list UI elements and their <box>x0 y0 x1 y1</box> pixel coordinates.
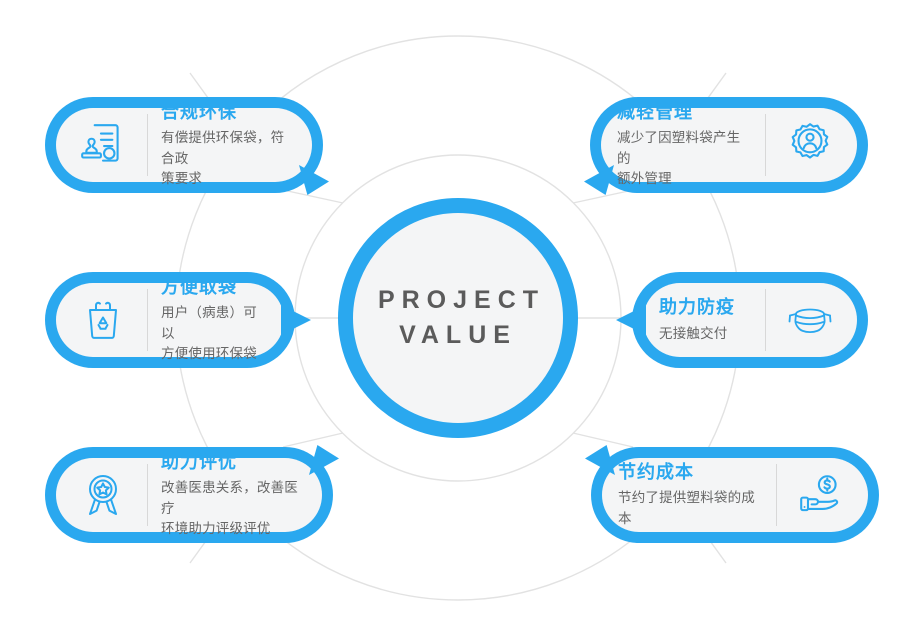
card-rating-divider <box>147 464 148 526</box>
face-mask-icon <box>779 294 841 346</box>
card-manage-divider <box>765 114 766 176</box>
card-compliance-body: 合规环保 有偿提供环保袋，符合政 策要求 <box>56 108 312 182</box>
card-epidemic-body: 助力防疫 无接触交付 <box>643 283 857 357</box>
card-epidemic-text: 助力防疫 无接触交付 <box>659 296 752 344</box>
spoke-lower-right <box>573 433 633 447</box>
card-bag-text: 方便取袋 用户（病患）可以 方便使用环保袋 <box>161 276 268 364</box>
card-compliance-desc: 有偿提供环保袋，符合政 策要求 <box>161 128 296 189</box>
card-cost-title: 节约成本 <box>618 461 763 484</box>
card-epidemic-divider <box>765 289 766 351</box>
award-medal-icon <box>72 471 134 519</box>
card-rating-desc: 改善医患关系，改善医疗 环境助力评级评优 <box>161 478 306 539</box>
card-manage-text: 减轻管理 减少了因塑料袋产生的 额外管理 <box>617 101 752 189</box>
card-rating[interactable]: 助力评优 改善医患关系，改善医疗 环境助力评级评优 <box>45 447 333 543</box>
card-manage-title: 减轻管理 <box>617 101 752 124</box>
card-bag-desc: 用户（病患）可以 方便使用环保袋 <box>161 303 268 364</box>
card-bag-divider <box>147 289 148 351</box>
recycle-bag-icon <box>72 296 134 344</box>
card-compliance[interactable]: 合规环保 有偿提供环保袋，符合政 策要求 <box>45 97 323 193</box>
card-rating-body: 助力评优 改善医患关系，改善医疗 环境助力评级评优 <box>56 458 322 532</box>
spoke-lower-left <box>283 433 343 447</box>
card-cost-desc: 节约了提供塑料袋的成本 <box>618 488 763 529</box>
card-epidemic[interactable]: 助力防疫 无接触交付 <box>632 272 868 368</box>
stamped-document-icon <box>72 120 134 170</box>
hand-coin-icon <box>790 470 852 520</box>
spoke-upper-left <box>283 190 343 203</box>
infographic-canvas: PROJECT VALUE 合规环保 有偿提供环保袋，符合政 策要求 <box>0 0 913 634</box>
center-hub-label: PROJECT VALUE <box>371 283 545 354</box>
card-manage-desc: 减少了因塑料袋产生的 额外管理 <box>617 128 752 189</box>
card-rating-text: 助力评优 改善医患关系，改善医疗 环境助力评级评优 <box>161 451 306 539</box>
card-epidemic-title: 助力防疫 <box>659 296 752 319</box>
card-rating-title: 助力评优 <box>161 451 306 474</box>
card-bag-body: 方便取袋 用户（病患）可以 方便使用环保袋 <box>56 283 284 357</box>
card-bag-title: 方便取袋 <box>161 276 268 299</box>
card-manage[interactable]: 减轻管理 减少了因塑料袋产生的 额外管理 <box>590 97 868 193</box>
card-cost-divider <box>776 464 777 526</box>
card-bag[interactable]: 方便取袋 用户（病患）可以 方便使用环保袋 <box>45 272 295 368</box>
card-epidemic-desc: 无接触交付 <box>659 324 752 344</box>
card-compliance-title: 合规环保 <box>161 101 296 124</box>
center-hub: PROJECT VALUE <box>338 198 578 438</box>
card-cost-text: 节约成本 节约了提供塑料袋的成本 <box>618 461 763 529</box>
card-cost[interactable]: 节约成本 节约了提供塑料袋的成本 <box>591 447 879 543</box>
card-compliance-text: 合规环保 有偿提供环保袋，符合政 策要求 <box>161 101 296 189</box>
card-manage-body: 减轻管理 减少了因塑料袋产生的 额外管理 <box>601 108 857 182</box>
card-compliance-divider <box>147 114 148 176</box>
gear-user-icon <box>779 120 841 170</box>
card-cost-body: 节约成本 节约了提供塑料袋的成本 <box>602 458 868 532</box>
